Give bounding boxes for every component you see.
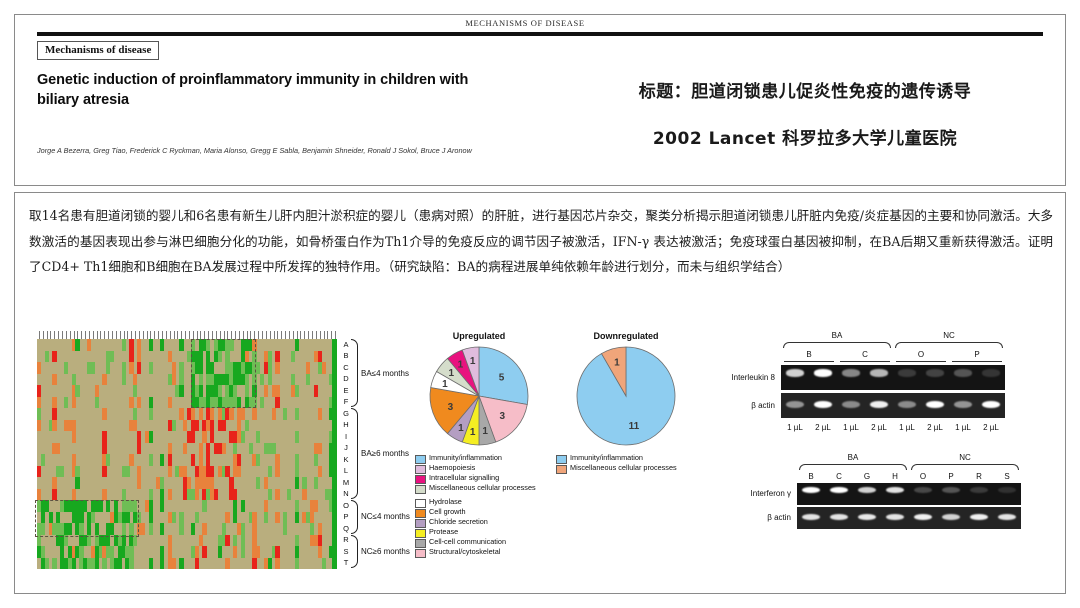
gel-band [858,487,877,494]
gel-band [842,401,861,409]
figure-row: ABCDEFGHIJKLMNOPQRST BA≤4 monthsBA≥6 mon… [15,331,1067,589]
gel-sample-label: H [881,472,909,481]
pie-slice-value: 11 [629,421,640,432]
gel-band [998,487,1017,494]
heatmap-group-label: NC≤4 months [361,512,410,521]
gel-band [870,369,889,377]
gel-sample-label: P [937,472,965,481]
gel-sample-label: O [909,472,937,481]
gel-band [858,514,877,521]
gel-sample-underline [840,361,890,362]
gel-group-brace [895,342,1003,348]
article-title: Genetic induction of proinflammatory imm… [37,71,507,110]
gel-group-brace [911,464,1019,470]
gel-band [802,514,821,521]
summary-card: 取14名患有胆道闭锁的婴儿和6名患有新生儿肝内胆汁淤积症的婴儿（患病对照）的肝脏… [14,192,1066,594]
heatmap-tick-strip [37,331,337,339]
heatmap-group-brace [351,408,358,499]
gel-volume-label: 1 µL [949,423,977,432]
journal-running-head: MECHANISMS OF DISEASE [15,18,1035,28]
gel-sample-label: S [993,472,1021,481]
gel-band [954,401,973,409]
gel-band [886,514,905,521]
section-tag: Mechanisms of disease [37,41,159,60]
chinese-title-block: 标题：胆道闭锁患儿促炎性免疫的遗传诱导 2002 Lancet 科罗拉多大学儿童… [555,77,1055,149]
legend-swatch [415,465,426,474]
pie-slice-value: 1 [442,379,448,390]
gel-strip-actin [781,393,1005,418]
downregulated-pie-title: Downregulated [556,331,696,341]
legend-item: Structural/cytoskeletal [415,548,543,558]
legend-label: Chloride secretion [429,518,488,527]
legend-item: Miscellaneous cellular processes [556,464,696,474]
legend-swatch [415,539,426,548]
interleukin8-gel-figure: BANCBCOPInterleukin 8β actin1 µL2 µL1 µL… [705,331,1055,446]
legend-label: Hydrolase [429,498,462,507]
gel-band [814,401,833,409]
gel-strip-actin [797,507,1021,529]
legend-swatch [415,529,426,538]
gel-group-label: NC [909,453,1021,462]
author-list: Jorge A Bezerra, Greg Tiao, Frederick C … [37,145,507,156]
heatmap-group-label: NC≥6 months [361,547,410,556]
gel-band [954,369,973,377]
gel-sample-underline [952,361,1002,362]
gel-band [926,401,945,409]
heatmap-group-label: BA≤4 months [361,369,409,378]
pie-slice-value: 5 [499,373,505,384]
gel-group-brace [783,342,891,348]
pie-slice-value: 1 [458,423,464,434]
gel-band [786,369,805,377]
gel-volume-label: 2 µL [977,423,1005,432]
gel-sample-label: B [797,472,825,481]
legend-swatch [556,465,567,474]
legend-item: Miscellaneous cellular processes [415,484,543,494]
journal-rule [37,32,1043,36]
downregulated-pie-block: Downregulated 111 Immunity/inflammationM… [556,331,696,474]
heatmap-group-brace [351,339,358,407]
gel-row-label: Interleukin 8 [705,373,775,382]
gel-group-label: BA [781,331,893,340]
interferon-gamma-gel-figure: BANCBCGHOPRSInterferon γβ actin [705,453,1055,571]
downregulated-pie-legend: Immunity/inflammationMiscellaneous cellu… [556,454,696,474]
gel-sample-underline [896,361,946,362]
gel-band [842,369,861,377]
gel-sample-label: R [965,472,993,481]
gel-sample-label: P [949,350,1005,359]
gel-band [886,487,905,494]
gel-band [942,514,961,521]
gel-volume-label: 1 µL [893,423,921,432]
gel-sample-label: C [837,350,893,359]
pie-slice-value: 3 [499,411,505,422]
slide-page: MECHANISMS OF DISEASE Mechanisms of dise… [0,0,1080,608]
legend-label: Miscellaneous cellular processes [429,484,536,493]
legend-label: Cell-cell communication [429,538,506,547]
gel-volume-label: 1 µL [781,423,809,432]
legend-label: Miscellaneous cellular processes [570,464,677,473]
gel-group-label: BA [797,453,909,462]
legend-swatch [415,485,426,494]
gel-sample-underline [784,361,834,362]
gel-sample-label: G [853,472,881,481]
gel-band [970,487,989,494]
downregulated-pie-chart: 111 [574,344,678,448]
gel-strip-target [781,365,1005,390]
gel-group-label: NC [893,331,1005,340]
pie-slice-value: 1 [448,368,454,379]
legend-label: Intracellular signalling [429,474,499,483]
gel-volume-label: 1 µL [837,423,865,432]
gel-volume-label: 2 µL [809,423,837,432]
gel-band [830,514,849,521]
legend-swatch [556,455,567,464]
heatmap-group-braces [351,339,359,569]
legend-label: Protease [429,528,458,537]
gel-band [802,487,821,494]
gel-band [814,369,833,377]
gel-band [998,514,1017,521]
pie-slice-value: 1 [614,357,620,368]
gel-band [898,401,917,409]
gel-sample-label: B [781,350,837,359]
heatmap-group-brace [351,500,358,534]
gel-band [898,369,917,377]
legend-swatch [415,519,426,528]
legend-swatch [415,455,426,464]
heatmap-group-brace [351,535,358,569]
gel-sample-label: O [893,350,949,359]
gel-band [914,487,933,494]
pie-slice-value: 3 [448,402,454,413]
chinese-source: 2002 Lancet 科罗拉多大学儿童医院 [555,124,1055,149]
legend-swatch [415,509,426,518]
gel-band [786,401,805,409]
gene-expression-heatmap: ABCDEFGHIJKLMNOPQRST BA≤4 monthsBA≥6 mon… [29,331,359,581]
legend-label: Haemopoiesis [429,464,475,473]
upregulated-pie-block: Upregulated 5311131111 Immunity/inflamma… [415,331,543,558]
upregulated-pie-title: Upregulated [415,331,543,341]
legend-label: Structural/cytoskeletal [429,548,500,557]
chinese-title: 标题：胆道闭锁患儿促炎性免疫的遗传诱导 [555,77,1055,102]
gel-row-label: Interferon γ [705,489,791,498]
pie-slice-value: 1 [470,427,476,438]
upregulated-pie-legend: Immunity/inflammationHaemopoiesisIntrace… [415,454,543,558]
gel-row-label: β actin [705,401,775,410]
legend-swatch [415,499,426,508]
summary-paragraph: 取14名患有胆道闭锁的婴儿和6名患有新生儿肝内胆汁淤积症的婴儿（患病对照）的肝脏… [29,203,1053,280]
journal-header-card: MECHANISMS OF DISEASE Mechanisms of dise… [14,14,1066,186]
gel-strip-target [797,483,1021,505]
gel-band [982,401,1001,409]
pie-slice-value: 1 [458,359,464,370]
legend-label: Immunity/inflammation [429,454,502,463]
heatmap-canvas [37,339,337,569]
gel-row-label: β actin [705,513,791,522]
legend-label: Immunity/inflammation [570,454,643,463]
gel-band [830,487,849,494]
gel-group-brace [799,464,907,470]
gel-band [970,514,989,521]
gel-band [870,401,889,409]
gel-volume-label: 2 µL [921,423,949,432]
gel-band [926,369,945,377]
legend-swatch [415,549,426,558]
pie-slice-value: 1 [470,356,476,367]
gel-band [982,369,1001,377]
pie-slice-value: 1 [482,426,488,437]
legend-label: Cell growth [429,508,466,517]
gel-volume-label: 2 µL [865,423,893,432]
gel-band [914,514,933,521]
legend-swatch [415,475,426,484]
heatmap-group-label: BA≥6 months [361,449,409,458]
gel-sample-label: C [825,472,853,481]
gel-band [942,487,961,494]
upregulated-pie-chart: 5311131111 [427,344,531,448]
